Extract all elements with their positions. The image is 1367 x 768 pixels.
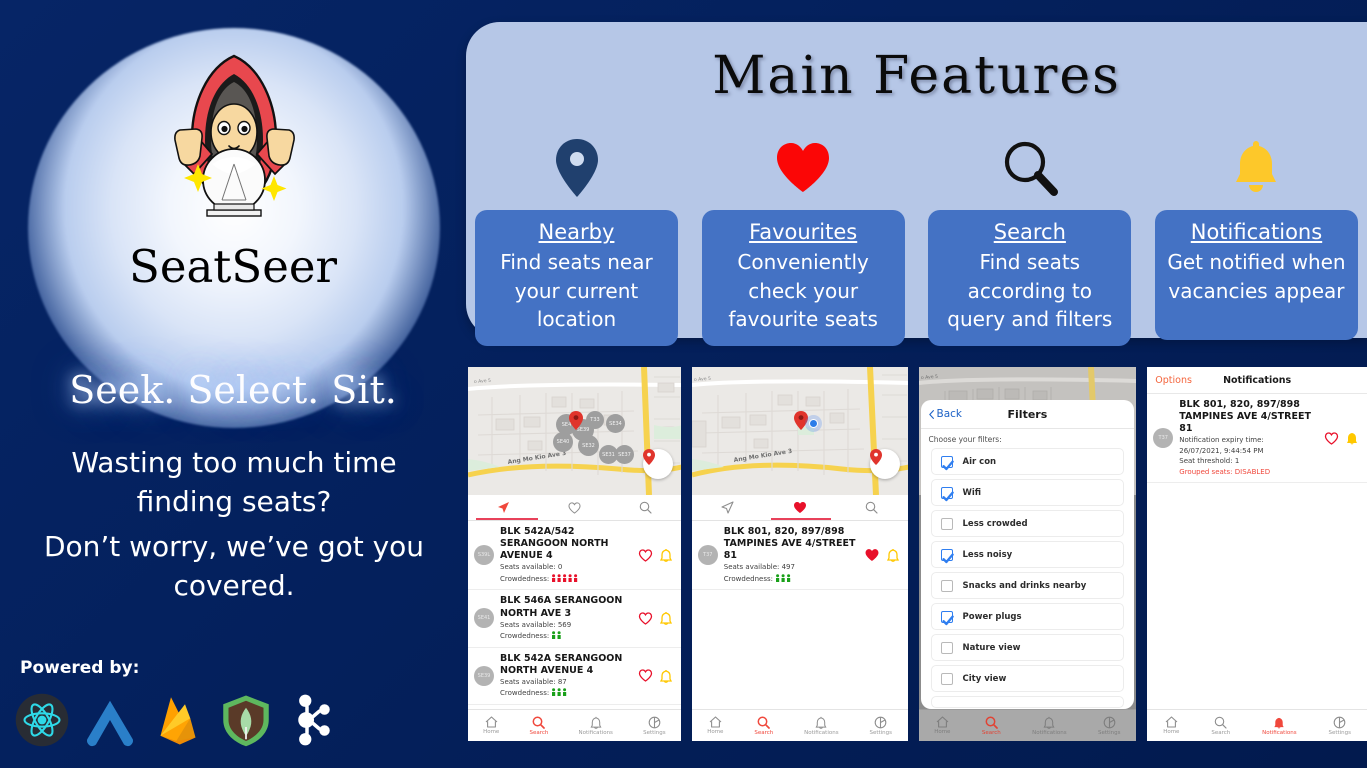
nav-notifications[interactable]: Notifications bbox=[1262, 716, 1296, 736]
crowdedness-label: Crowdedness: bbox=[500, 689, 549, 697]
map-cluster[interactable]: SE40 bbox=[553, 432, 573, 452]
navigate-icon bbox=[721, 501, 734, 514]
nav-search[interactable]: Search bbox=[1211, 716, 1230, 736]
tab-active-underline bbox=[771, 518, 831, 520]
nav-label: Home bbox=[483, 729, 499, 735]
search-icon bbox=[865, 501, 878, 514]
search-icon bbox=[1214, 716, 1227, 729]
filter-label: Less crowded bbox=[963, 519, 1028, 529]
heart-icon bbox=[775, 134, 831, 202]
feature-head: Favourites bbox=[749, 218, 857, 246]
filters-subtitle: Choose your filters: bbox=[921, 429, 1135, 448]
filters-header: Back Filters bbox=[921, 400, 1135, 429]
map-pin-icon bbox=[555, 134, 599, 202]
phone-nearby: o Ave 5 Ang Mo Kio Ave 3 SE4 T33 SE34 SE… bbox=[468, 367, 681, 741]
search-icon bbox=[985, 716, 998, 729]
filters-sheet: Back Filters Choose your filters: Air co… bbox=[921, 400, 1135, 709]
gear-icon bbox=[1103, 716, 1116, 729]
filter-label: Wifi bbox=[963, 488, 982, 498]
svg-text:o Ave 5: o Ave 5 bbox=[474, 378, 492, 385]
crowdedness-label: Crowdedness: bbox=[500, 632, 549, 640]
features-row: Nearby Find seats near your current loca… bbox=[474, 134, 1359, 346]
nav-label: Search bbox=[982, 730, 1001, 736]
filter-label: Snacks and drinks nearby bbox=[963, 581, 1087, 591]
features-title: Main Features bbox=[466, 46, 1367, 106]
nav-home[interactable]: Home bbox=[707, 716, 723, 735]
bottom-nav[interactable]: Home Search Notifications Settings bbox=[1147, 709, 1367, 741]
nav-home[interactable]: Home bbox=[483, 716, 499, 735]
crowd-people-icons bbox=[775, 574, 793, 582]
nav-label: Search bbox=[1211, 730, 1230, 736]
powered-by-label: Powered by: bbox=[20, 658, 139, 678]
filter-wifi[interactable]: Wifi bbox=[931, 479, 1125, 506]
svg-text:o Ave 5: o Ave 5 bbox=[693, 376, 711, 383]
checkbox-unchecked-icon[interactable] bbox=[941, 673, 953, 685]
bell-icon bbox=[590, 716, 602, 729]
avatar: T37 bbox=[698, 545, 718, 565]
nav-search[interactable]: Search bbox=[529, 716, 548, 736]
tab-favourites[interactable] bbox=[539, 495, 610, 520]
firebase-logo bbox=[150, 692, 206, 748]
tab-search[interactable] bbox=[836, 495, 908, 520]
nav-label: Notifications bbox=[579, 730, 613, 736]
feature-head: Nearby bbox=[539, 218, 615, 246]
nav-notifications[interactable]: Notifications bbox=[804, 716, 838, 736]
nav-label: Settings bbox=[1098, 730, 1121, 736]
react-logo bbox=[14, 692, 70, 748]
favourite-heart-icon[interactable] bbox=[864, 548, 880, 562]
notification-expiry-value: 26/07/2021, 9:44:54 PM bbox=[1179, 447, 1318, 456]
crowdedness-label: Crowdedness: bbox=[500, 575, 549, 583]
main-features-panel: Main Features Nearby Find seats near you… bbox=[466, 22, 1367, 338]
bottom-nav[interactable]: Home Search Notifications Settings bbox=[468, 709, 681, 741]
filter-next-partial[interactable] bbox=[931, 696, 1125, 708]
phone-favourites: o Ave 5 Ang Mo Kio Ave 3 bbox=[692, 367, 908, 741]
favourite-heart-icon[interactable] bbox=[638, 549, 653, 562]
magnifier-icon bbox=[1001, 134, 1059, 202]
map-view[interactable]: o Ave 5 Ang Mo Kio Ave 3 bbox=[692, 367, 908, 495]
filter-snacks-drinks[interactable]: Snacks and drinks nearby bbox=[931, 572, 1125, 599]
pitch-line-1: Wasting too much time finding seats? bbox=[36, 444, 432, 521]
home-icon bbox=[936, 716, 949, 728]
feature-desc: Conveniently check your favourite seats bbox=[710, 248, 897, 333]
nav-settings[interactable]: Settings bbox=[1098, 716, 1121, 736]
list-item[interactable]: T37 BLK 801, 820, 897/898 TAMPINES AVE 4… bbox=[692, 521, 908, 590]
list-item-seats: Seats available: 497 bbox=[724, 563, 858, 572]
search-icon bbox=[639, 501, 652, 514]
heart-outline-icon bbox=[568, 502, 581, 514]
screenshot-strip: o Ave 5 Ang Mo Kio Ave 3 SE4 T33 SE34 SE… bbox=[468, 367, 1367, 741]
gear-icon bbox=[874, 716, 887, 729]
filter-city-view[interactable]: City view bbox=[931, 665, 1125, 692]
list-item-title: BLK 542A SERANGOON NORTH AVENUE 4 bbox=[500, 653, 632, 677]
feature-card-favourites[interactable]: Favourites Conveniently check your favou… bbox=[702, 210, 905, 346]
checkbox-checked-icon[interactable] bbox=[941, 487, 953, 499]
gear-icon bbox=[1333, 716, 1346, 729]
feature-card-nearby[interactable]: Nearby Find seats near your current loca… bbox=[475, 210, 678, 346]
pitch-line-2: Don’t worry, we’ve got you covered. bbox=[36, 528, 432, 605]
home-icon bbox=[709, 716, 722, 728]
phone-notifications: Options Notifications T37 BLK 801, 820, … bbox=[1147, 367, 1367, 741]
bell-icon bbox=[1043, 716, 1055, 729]
tech-logo-strip bbox=[14, 692, 342, 748]
map-cluster[interactable]: SE32 bbox=[578, 435, 599, 456]
checkbox-unchecked-icon[interactable] bbox=[941, 642, 953, 654]
nav-label: Settings bbox=[869, 730, 892, 736]
filter-nature-view[interactable]: Nature view bbox=[931, 634, 1125, 661]
avatar: SE39 bbox=[474, 666, 494, 686]
nav-settings[interactable]: Settings bbox=[643, 716, 666, 736]
bell-icon bbox=[1273, 716, 1285, 729]
nav-label: Notifications bbox=[1262, 730, 1296, 736]
crowd-people-icons bbox=[551, 688, 569, 696]
list-item-seats: Seats available: 0 bbox=[500, 563, 632, 572]
list-item-crowdedness: Crowdedness: bbox=[724, 574, 858, 584]
locate-pin-icon[interactable] bbox=[870, 449, 900, 479]
bell-icon bbox=[815, 716, 827, 729]
list-item[interactable]: T37 BLK 801, 820, 897/898 TAMPINES AVE 4… bbox=[1147, 394, 1367, 483]
notify-bell-icon[interactable] bbox=[887, 548, 899, 562]
filter-label: Nature view bbox=[963, 643, 1021, 653]
chevron-left-icon bbox=[929, 410, 934, 419]
feature-card-search[interactable]: Search Find seats according to query and… bbox=[928, 210, 1131, 346]
feature-card-notifications[interactable]: Notifications Get notified when vacancie… bbox=[1155, 210, 1358, 340]
favourite-heart-icon[interactable] bbox=[638, 612, 653, 625]
filter-label: Power plugs bbox=[963, 612, 1022, 622]
nav-search[interactable]: Search bbox=[754, 716, 773, 736]
gear-icon bbox=[648, 716, 661, 729]
slide-root: SeatSeer Seek. Select. Sit. Wasting too … bbox=[0, 0, 1367, 768]
bottom-nav[interactable]: Home Search Notifications Settings bbox=[692, 709, 908, 741]
list-item-crowdedness: Crowdedness: bbox=[500, 574, 632, 584]
nav-label: Home bbox=[1163, 729, 1179, 735]
navigate-icon bbox=[497, 501, 510, 514]
filter-label: Air con bbox=[963, 457, 997, 467]
svg-text:o Ave 5: o Ave 5 bbox=[920, 374, 938, 381]
feature-notifications[interactable]: Notifications Get notified when vacancie… bbox=[1154, 134, 1359, 346]
avatar: SE41 bbox=[474, 608, 494, 628]
list-item-crowdedness: Crowdedness: bbox=[500, 688, 632, 698]
bell-icon bbox=[1231, 134, 1281, 202]
crowd-people-icons bbox=[551, 574, 579, 582]
search-icon bbox=[757, 716, 770, 729]
notifications-header: Options Notifications bbox=[1147, 367, 1367, 394]
nav-home[interactable]: Home bbox=[1163, 716, 1179, 735]
back-label: Back bbox=[937, 408, 963, 420]
checkbox-checked-icon[interactable] bbox=[941, 611, 953, 623]
notify-bell-icon[interactable] bbox=[1346, 431, 1358, 445]
nav-label: Home bbox=[707, 729, 723, 735]
brand-panel: SeatSeer Seek. Select. Sit. Wasting too … bbox=[0, 0, 466, 768]
tab-nearby[interactable] bbox=[692, 495, 764, 520]
nav-label: Search bbox=[754, 730, 773, 736]
feature-desc: Get notified when vacancies appear bbox=[1163, 248, 1350, 305]
home-icon bbox=[1165, 716, 1178, 728]
checkbox-checked-icon[interactable] bbox=[941, 456, 953, 468]
nav-settings[interactable]: Settings bbox=[869, 716, 892, 736]
options-button[interactable]: Options bbox=[1155, 375, 1192, 386]
feature-favourites[interactable]: Favourites Conveniently check your favou… bbox=[701, 134, 906, 346]
checkbox-checked-icon[interactable] bbox=[941, 549, 953, 561]
kafka-logo bbox=[286, 692, 342, 748]
phone-filters: o Ave 5 Back Filters Choose your filters… bbox=[919, 367, 1137, 741]
crowd-people-icons bbox=[551, 631, 563, 639]
list-item-seats: Seats available: 569 bbox=[500, 621, 632, 630]
fortune-teller-crystal-ball-icon bbox=[152, 52, 317, 267]
tab-nearby[interactable] bbox=[468, 495, 539, 520]
notification-grouped: Grouped seats: DISABLED bbox=[1179, 468, 1318, 477]
nav-label: Settings bbox=[643, 730, 666, 736]
favourite-heart-icon[interactable] bbox=[638, 669, 653, 682]
brand-tagline: Seek. Select. Sit. bbox=[0, 368, 466, 412]
feature-search[interactable]: Search Find seats according to query and… bbox=[927, 134, 1132, 346]
bottom-nav[interactable]: Home Search Notifications Settings bbox=[919, 709, 1137, 741]
feature-desc: Find seats near your current location bbox=[483, 248, 670, 333]
feature-head: Notifications bbox=[1191, 218, 1322, 246]
list-item-seats: Seats available: 87 bbox=[500, 678, 632, 687]
filter-less-crowded[interactable]: Less crowded bbox=[931, 510, 1125, 537]
brand-name: SeatSeer bbox=[0, 240, 466, 293]
expo-logo bbox=[82, 692, 138, 748]
nav-search[interactable]: Search bbox=[982, 716, 1001, 736]
back-button[interactable]: Back bbox=[929, 408, 963, 420]
nav-label: Settings bbox=[1328, 730, 1351, 736]
nav-label: Notifications bbox=[804, 730, 838, 736]
filter-power-plugs[interactable]: Power plugs bbox=[931, 603, 1125, 630]
avatar: T37 bbox=[1153, 428, 1173, 448]
checkbox-unchecked-icon[interactable] bbox=[941, 580, 953, 592]
dimmed-backdrop: o Ave 5 Back Filters Choose your filters… bbox=[919, 367, 1137, 741]
list-item[interactable]: SE39 BLK 542A SERANGOON NORTH AVENUE 4 S… bbox=[468, 648, 681, 705]
list-item[interactable]: S39L BLK 542A/542 SERANGOON NORTH AVENUE… bbox=[468, 521, 681, 590]
list-item-title: BLK 546A SERANGOON NORTH AVE 3 bbox=[500, 595, 632, 619]
notification-list[interactable]: T37 BLK 801, 820, 897/898 TAMPINES AVE 4… bbox=[1147, 394, 1367, 483]
filter-label: City view bbox=[963, 674, 1007, 684]
locate-pin-icon[interactable] bbox=[643, 449, 673, 479]
list-item-title: BLK 801, 820, 897/898 TAMPINES AVE 4/STR… bbox=[724, 526, 858, 562]
nav-notifications[interactable]: Notifications bbox=[579, 716, 613, 736]
notify-bell-icon[interactable] bbox=[660, 548, 672, 562]
mongodb-logo bbox=[218, 692, 274, 748]
search-icon bbox=[532, 716, 545, 729]
notify-bell-icon[interactable] bbox=[660, 669, 672, 683]
feature-nearby[interactable]: Nearby Find seats near your current loca… bbox=[474, 134, 679, 346]
nav-label: Search bbox=[529, 730, 548, 736]
crowdedness-label: Crowdedness: bbox=[724, 575, 773, 583]
feature-desc: Find seats according to query and filter… bbox=[936, 248, 1123, 333]
map-cluster[interactable]: SE34 bbox=[606, 414, 625, 433]
home-icon bbox=[485, 716, 498, 728]
filter-less-noisy[interactable]: Less noisy bbox=[931, 541, 1125, 568]
notification-threshold: Seat threshold: 1 bbox=[1179, 457, 1318, 466]
map-pin-icon[interactable] bbox=[569, 411, 583, 430]
tab-favourites[interactable] bbox=[764, 495, 836, 520]
feature-head: Search bbox=[994, 218, 1066, 246]
nav-label: Notifications bbox=[1032, 730, 1066, 736]
nav-notifications[interactable]: Notifications bbox=[1032, 716, 1066, 736]
nav-home[interactable]: Home bbox=[934, 716, 950, 735]
map-view[interactable]: o Ave 5 Ang Mo Kio Ave 3 SE4 T33 SE34 SE… bbox=[468, 367, 681, 495]
nav-settings[interactable]: Settings bbox=[1328, 716, 1351, 736]
list-item-crowdedness: Crowdedness: bbox=[500, 631, 632, 641]
checkbox-unchecked-icon[interactable] bbox=[941, 518, 953, 530]
tab-strip[interactable] bbox=[692, 495, 908, 521]
seat-list[interactable]: S39L BLK 542A/542 SERANGOON NORTH AVENUE… bbox=[468, 521, 681, 740]
filter-aircon[interactable]: Air con bbox=[931, 448, 1125, 475]
tab-active-underline bbox=[476, 518, 538, 520]
favourite-heart-icon[interactable] bbox=[1324, 432, 1339, 445]
list-item-title: BLK 542A/542 SERANGOON NORTH AVENUE 4 bbox=[500, 526, 632, 562]
tab-search[interactable] bbox=[610, 495, 681, 520]
list-item-title: BLK 801, 820, 897/898 TAMPINES AVE 4/STR… bbox=[1179, 399, 1318, 435]
list-item[interactable]: SE41 BLK 546A SERANGOON NORTH AVE 3 Seat… bbox=[468, 590, 681, 647]
heart-filled-icon bbox=[793, 501, 807, 514]
blue-dot-icon bbox=[805, 415, 822, 432]
avatar: S39L bbox=[474, 545, 494, 565]
map-cluster[interactable]: SE37 bbox=[615, 445, 634, 464]
notify-bell-icon[interactable] bbox=[660, 611, 672, 625]
nav-label: Home bbox=[934, 729, 950, 735]
seat-list[interactable]: T37 BLK 801, 820, 897/898 TAMPINES AVE 4… bbox=[692, 521, 908, 590]
notification-expiry-label: Notification expiry time: bbox=[1179, 436, 1318, 445]
filter-label: Less noisy bbox=[963, 550, 1013, 560]
tab-strip[interactable] bbox=[468, 495, 681, 521]
